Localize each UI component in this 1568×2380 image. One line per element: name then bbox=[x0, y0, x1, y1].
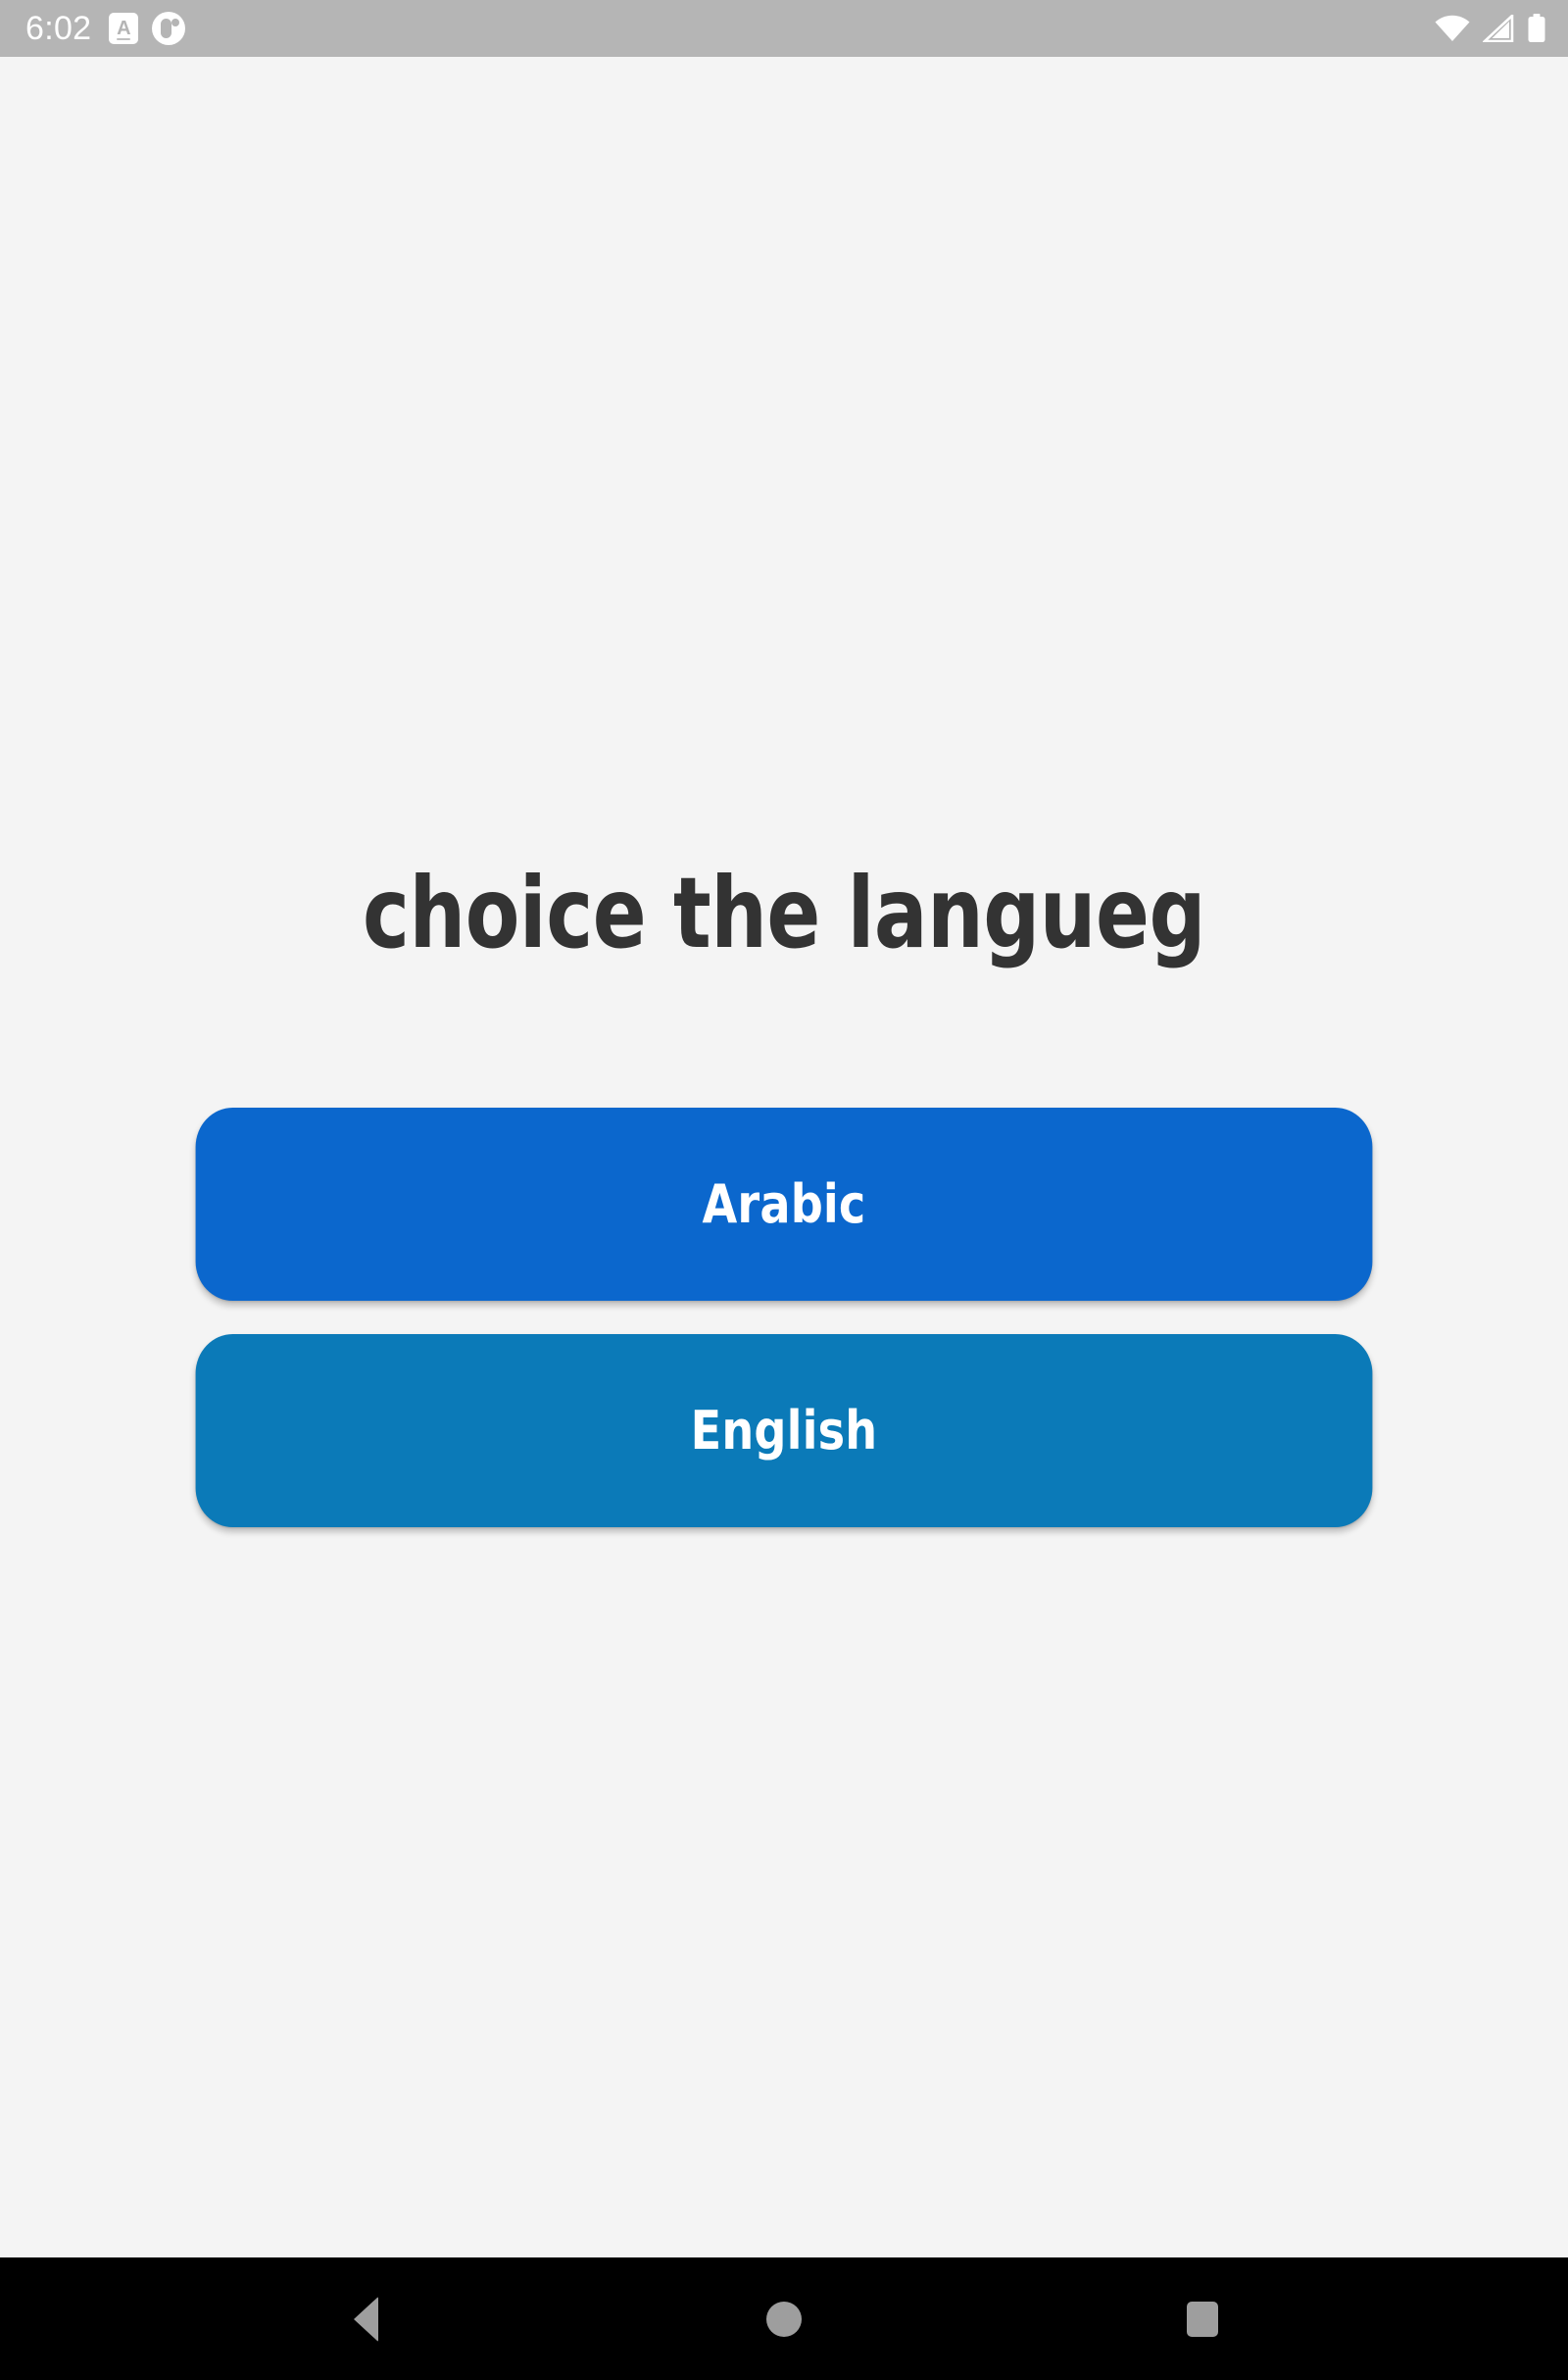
page-title: choice the langueg bbox=[78, 863, 1490, 965]
recents-square-icon bbox=[1187, 2302, 1218, 2337]
status-bar-clock: 6:02 bbox=[25, 12, 91, 45]
nav-back-button[interactable] bbox=[307, 2257, 424, 2380]
android-navigation-bar bbox=[0, 2257, 1568, 2380]
app-circle-icon bbox=[152, 12, 185, 45]
battery-icon bbox=[1527, 14, 1546, 43]
phone-screen: 6:02 A bbox=[0, 0, 1568, 2380]
home-circle-icon bbox=[766, 2302, 802, 2337]
back-triangle-icon bbox=[354, 2297, 378, 2342]
status-bar-notification-icons: A bbox=[109, 12, 185, 45]
language-button-arabic[interactable]: Arabic bbox=[196, 1108, 1373, 1301]
cellular-signal-icon bbox=[1483, 15, 1514, 42]
language-options-group: Arabic English bbox=[165, 1108, 1403, 1527]
status-bar-left: 6:02 A bbox=[25, 12, 185, 45]
status-bar: 6:02 A bbox=[0, 0, 1568, 57]
language-button-english[interactable]: English bbox=[196, 1334, 1373, 1527]
status-bar-right bbox=[1435, 14, 1546, 43]
wifi-icon bbox=[1435, 15, 1470, 42]
translate-a-icon: A bbox=[109, 13, 138, 44]
nav-home-button[interactable] bbox=[725, 2257, 843, 2380]
main-content: choice the langueg Arabic English bbox=[0, 57, 1568, 2257]
nav-recents-button[interactable] bbox=[1144, 2257, 1261, 2380]
